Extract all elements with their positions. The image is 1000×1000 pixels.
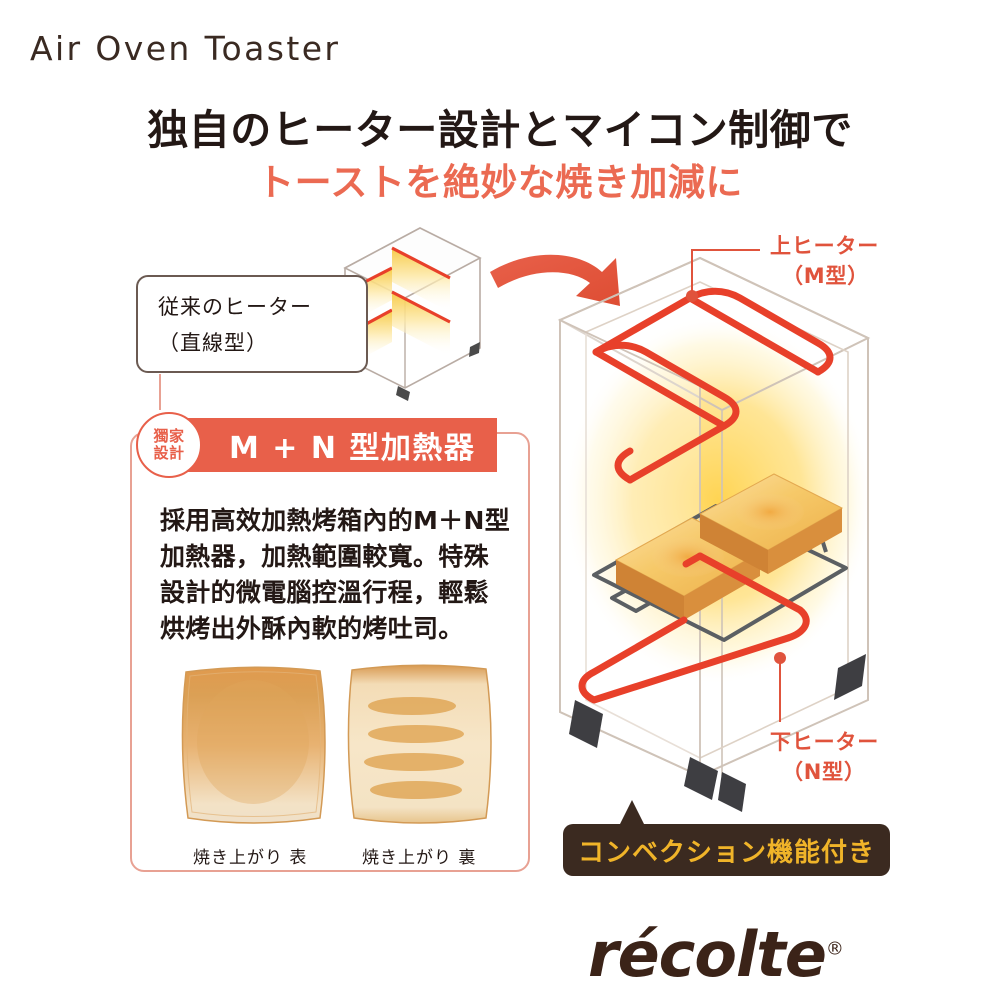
upper-heater-leader [686,250,760,302]
feature-body-text: 採用高效加熱烤箱內的M＋N型加熱器，加熱範圍較寬。特殊設計的微電腦控溫行程，輕鬆… [160,503,512,647]
conventional-heater-callout: 従来のヒーター （直線型） [136,275,368,373]
brand-logo-text: récolte [588,918,826,991]
feature-banner: M + N 型加熱器 [167,418,497,472]
lower-heater-label-line1: 下ヒーター [770,728,879,757]
m-shaped-heater-coil [560,271,830,480]
headline-accent: トーストを絶妙な焼き加減に [0,152,1000,206]
badge-line1: 獨家 [153,428,184,445]
headline-primary: 独自のヒーター設計とマイコン制御で [0,96,1000,156]
convection-banner-text: コンベクション機能付き [578,832,875,869]
conventional-heater-label-line2: （直線型） [158,327,268,357]
exclusive-design-badge: 獨家 設計 [136,412,202,478]
oven-rack-with-toast [594,474,846,640]
feature-banner-title: M + N 型加熱器 [229,423,475,467]
badge-line2: 設計 [153,445,184,462]
lower-heater-leader [774,652,786,722]
upper-heater-label-line2: （M型） [782,262,869,291]
toast-caption-back: 焼き上がり 裏 [362,843,476,868]
feature-card [130,432,530,872]
toast-caption-front: 焼き上がり 表 [193,843,307,868]
infographic-canvas: Air Oven Toaster 独自のヒーター設計とマイコン制御で トーストを… [0,0,1000,1000]
lower-heater-label-line2: （N型） [782,758,866,787]
curved-arrow-icon [490,255,620,306]
product-name: Air Oven Toaster [30,29,340,68]
convection-banner: コンベクション機能付き [563,824,890,876]
registered-trademark-icon: ® [826,938,844,959]
conventional-heater-label-line1: 従来のヒーター [158,291,312,321]
upper-heater-label-line1: 上ヒーター [770,232,879,261]
convection-banner-pointer [619,800,645,826]
brand-logo: récolte® [588,918,844,991]
n-shaped-heater-coil [582,556,806,700]
